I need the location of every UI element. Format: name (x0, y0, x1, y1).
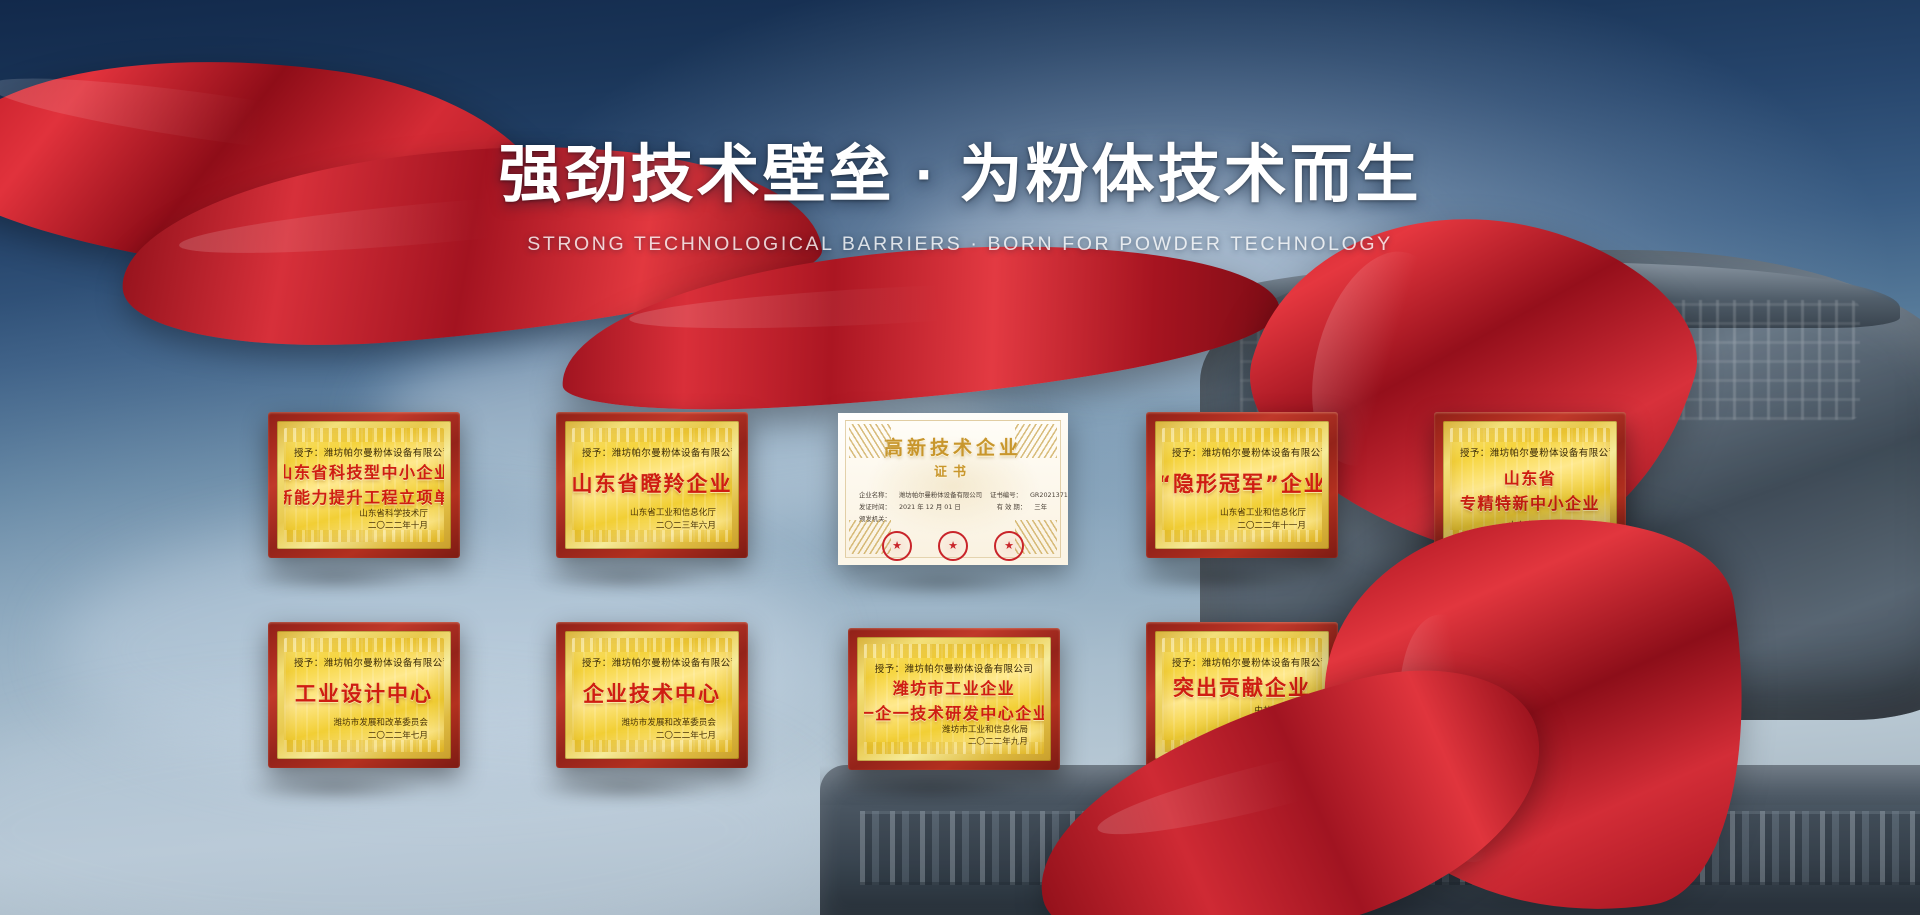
plaque-issuer-line: 二〇二三年六月 (582, 520, 716, 532)
plaque-issuer: 山东省工业和信息化厅 二〇二三年六月 (582, 507, 722, 532)
plaque-face: 授予：潍坊帕尔曼粉体设备有限公司 高质量发展优秀企业 新安街道党工委 新安街道办… (1440, 644, 1620, 754)
plaque-title: 高质量发展优秀企业 (1450, 675, 1610, 707)
plaque-shadow (530, 775, 720, 801)
plaque-shadow (240, 775, 430, 801)
plaque-title: “隐形冠军”企业 (1172, 459, 1312, 507)
certificate-corner-ornament-icon (849, 424, 891, 458)
plaque-issuer: 山东省工业和信息化厅 二〇二二年十一月 (1172, 507, 1312, 532)
plaque-issuer: 山东省科学技术厅 二〇二二年十月 (294, 508, 434, 533)
plaque-title-line: 潍坊市工业企业 (893, 675, 1016, 699)
plaque-title: 潍坊市工业企业 一企一技术研发中心企业 (874, 675, 1034, 724)
award-plaque[interactable]: 授予：潍坊帕尔曼粉体设备有限公司 山东省 专精特新中小企业 山东省工业和信息化厅 (1434, 412, 1626, 558)
certificate-company-label: 企业名称： (859, 489, 891, 501)
plaque-title: 山东省 专精特新中小企业 (1460, 459, 1600, 520)
certificate-validity-label: 有 效 期： (997, 501, 1027, 513)
plaque-awardee: 授予：潍坊帕尔曼粉体设备有限公司 (294, 655, 434, 669)
plaque-title-line: 突出贡献企业 (1173, 672, 1311, 702)
plaque-bevel: 授予：潍坊帕尔曼粉体设备有限公司 工业设计中心 潍坊市发展和改革委员会 二〇二二… (277, 631, 451, 759)
certificate-number-value: GR202137101602 (1030, 489, 1068, 501)
award-plaque[interactable]: 授予：潍坊帕尔曼粉体设备有限公司 突出贡献企业 中共官庄镇委 官庄镇人民政府 二… (1146, 622, 1338, 768)
plaque-title-line: 山东省科技型中小企业 (284, 459, 444, 483)
plaque-awardee: 授予：潍坊帕尔曼粉体设备有限公司 (1172, 445, 1312, 459)
plaque-face: 授予：潍坊帕尔曼粉体设备有限公司 工业设计中心 潍坊市发展和改革委员会 二〇二二… (284, 638, 444, 752)
award-plaque[interactable]: 授予：潍坊帕尔曼粉体设备有限公司 潍坊市工业企业 一企一技术研发中心企业 潍坊市… (848, 628, 1060, 770)
plaque-face: 授予：潍坊帕尔曼粉体设备有限公司 突出贡献企业 中共官庄镇委 官庄镇人民政府 二… (1162, 638, 1322, 752)
page-title: 强劲技术壁垒 · 为粉体技术而生 (0, 140, 1920, 211)
certificate-number-label: 证书编号： (990, 489, 1022, 501)
plaque-awardee: 授予：潍坊帕尔曼粉体设备有限公司 (582, 445, 722, 459)
award-plaque[interactable]: 授予：潍坊帕尔曼粉体设备有限公司 高质量发展优秀企业 新安街道党工委 新安街道办… (1424, 628, 1636, 770)
plaque-bevel: 授予：潍坊帕尔曼粉体设备有限公司 潍坊市工业企业 一企一技术研发中心企业 潍坊市… (857, 637, 1051, 761)
plaque-title: 工业设计中心 (294, 669, 434, 717)
certificate-subtitle: 证书 (934, 461, 972, 480)
award-plaque[interactable]: 授予：潍坊帕尔曼粉体设备有限公司 山东省瞪羚企业 山东省工业和信息化厅 二〇二三… (556, 412, 748, 558)
plaque-shadow (1410, 775, 1610, 801)
plaque-issuer-line: 潍坊市发展和改革委员会 (582, 717, 716, 729)
official-seal-icon (938, 531, 968, 561)
plaque-title: 企业技术中心 (582, 669, 722, 717)
plaque-title-line: 专精特新中小企业 (1460, 490, 1600, 514)
certificate-shadow (840, 570, 1040, 596)
award-plaque[interactable]: 授予：潍坊帕尔曼粉体设备有限公司 企业技术中心 潍坊市发展和改革委员会 二〇二二… (556, 622, 748, 768)
plaque-issuer: 潍坊市发展和改革委员会 二〇二二年七月 (582, 717, 722, 742)
plaque-face: 授予：潍坊帕尔曼粉体设备有限公司 “隐形冠军”企业 山东省工业和信息化厅 二〇二… (1162, 428, 1322, 542)
plaque-issuer-line: 官庄镇人民政府 (1172, 717, 1306, 729)
page-subtitle: STRONG TECHNOLOGICAL BARRIERS · BORN FOR… (0, 233, 1920, 256)
plaque-awardee: 授予：潍坊帕尔曼粉体设备有限公司 (1172, 655, 1312, 669)
plaque-face: 授予：潍坊帕尔曼粉体设备有限公司 山东省 专精特新中小企业 山东省工业和信息化厅 (1450, 428, 1610, 542)
banner-stage: 强劲技术壁垒 · 为粉体技术而生 STRONG TECHNOLOGICAL BA… (0, 0, 1920, 915)
plaque-issuer-line: 潍坊市发展和改革委员会 (294, 717, 428, 729)
plaque-face: 授予：潍坊帕尔曼粉体设备有限公司 企业技术中心 潍坊市发展和改革委员会 二〇二二… (572, 638, 732, 752)
award-plaque[interactable]: 授予：潍坊帕尔曼粉体设备有限公司 山东省科技型中小企业 创新能力提升工程立项单位… (268, 412, 460, 558)
certificate-issue-value: 2021 年 12 月 01 日 (899, 501, 961, 513)
plaque-issuer: 中共官庄镇委 官庄镇人民政府 二〇二〇年一月 (1172, 705, 1312, 742)
plaque-shadow (240, 565, 430, 591)
plaque-issuer-line: 二〇二二年十一月 (1172, 520, 1306, 532)
certificate-field-row: 企业名称： 潍坊帕尔曼粉体设备有限公司 证书编号： GR202137101602 (859, 489, 1047, 501)
plaque-shadow (1120, 775, 1310, 801)
plaque-issuer-line: 新安街道办事处 (1450, 719, 1604, 731)
plaque-title-line: 山东省 (1504, 465, 1557, 489)
plaque-title-line: 创新能力提升工程立项单位 (284, 484, 444, 508)
certificate-corner-ornament-icon (1015, 424, 1057, 458)
plaque-awardee: 授予：潍坊帕尔曼粉体设备有限公司 (1460, 445, 1600, 459)
awards-gallery: 授予：潍坊帕尔曼粉体设备有限公司 山东省科技型中小企业 创新能力提升工程立项单位… (0, 0, 1920, 915)
plaque-bevel: 授予：潍坊帕尔曼粉体设备有限公司 山东省 专精特新中小企业 山东省工业和信息化厅 (1443, 421, 1617, 549)
certificate-inner: 高新技术企业 证书 企业名称： 潍坊帕尔曼粉体设备有限公司 证书编号： GR20… (845, 420, 1061, 558)
plaque-shadow (530, 565, 720, 591)
plaque-face: 授予：潍坊帕尔曼粉体设备有限公司 山东省瞪羚企业 山东省工业和信息化厅 二〇二三… (572, 428, 732, 542)
plaque-issuer: 新安街道党工委 新安街道办事处 二〇二三年二月 (1450, 707, 1610, 744)
certificate-title: 高新技术企业 (884, 433, 1022, 460)
plaque-face: 授予：潍坊帕尔曼粉体设备有限公司 潍坊市工业企业 一企一技术研发中心企业 潍坊市… (864, 644, 1044, 754)
plaque-issuer: 潍坊市发展和改革委员会 二〇二二年七月 (294, 717, 434, 742)
plaque-issuer-line: 新安街道党工委 (1450, 707, 1604, 719)
certificate-validity-value: 三年 (1034, 501, 1047, 513)
plaque-title: 山东省瞪羚企业 (582, 459, 722, 507)
plaque-issuer-line: 山东省工业和信息化厅 (582, 507, 716, 519)
plaque-bevel: 授予：潍坊帕尔曼粉体设备有限公司 高质量发展优秀企业 新安街道党工委 新安街道办… (1433, 637, 1627, 761)
plaque-awardee: 授予：潍坊帕尔曼粉体设备有限公司 (874, 661, 1034, 675)
plaque-title-line: 企业技术中心 (583, 678, 721, 708)
plaque-shadow (1120, 565, 1310, 591)
certificate-issue-label: 发证时间： (859, 501, 891, 513)
plaque-bevel: 授予：潍坊帕尔曼粉体设备有限公司 突出贡献企业 中共官庄镇委 官庄镇人民政府 二… (1155, 631, 1329, 759)
plaque-issuer-line: 山东省工业和信息化厅 (1172, 507, 1306, 519)
certificate-field-row: 发证时间： 2021 年 12 月 01 日 有 效 期： 三年 (859, 501, 1047, 513)
plaque-bevel: 授予：潍坊帕尔曼粉体设备有限公司 山东省科技型中小企业 创新能力提升工程立项单位… (277, 421, 451, 549)
certificate-company-value: 潍坊帕尔曼粉体设备有限公司 (899, 489, 982, 501)
plaque-issuer-line: 二〇二三年二月 (1450, 732, 1604, 744)
plaque-title-line: 一企一技术研发中心企业 (864, 700, 1044, 724)
plaque-title-line: 高质量发展优秀企业 (1440, 677, 1620, 704)
plaque-issuer-line: 二〇二二年九月 (874, 736, 1028, 748)
certificate-seals (882, 531, 1024, 561)
plaque-shadow (830, 775, 1030, 801)
plaque-issuer-line: 二〇二〇年一月 (1172, 730, 1306, 742)
plaque-face: 授予：潍坊帕尔曼粉体设备有限公司 山东省科技型中小企业 创新能力提升工程立项单位… (284, 428, 444, 542)
plaque-issuer-line: 二〇二二年七月 (294, 730, 428, 742)
plaque-issuer-line: 二〇二二年七月 (582, 730, 716, 742)
banner-headings: 强劲技术壁垒 · 为粉体技术而生 STRONG TECHNOLOGICAL BA… (0, 140, 1920, 256)
plaque-title-line: “隐形冠军”企业 (1162, 468, 1322, 498)
plaque-bevel: 授予：潍坊帕尔曼粉体设备有限公司 企业技术中心 潍坊市发展和改革委员会 二〇二二… (565, 631, 739, 759)
plaque-issuer-line: 中共官庄镇委 (1172, 705, 1306, 717)
award-plaque[interactable]: 授予：潍坊帕尔曼粉体设备有限公司 “隐形冠军”企业 山东省工业和信息化厅 二〇二… (1146, 412, 1338, 558)
plaque-awardee: 授予：潍坊帕尔曼粉体设备有限公司 (582, 655, 722, 669)
plaque-title: 突出贡献企业 (1172, 669, 1312, 705)
official-seal-icon (882, 531, 912, 561)
plaque-issuer: 潍坊市工业和信息化局 二〇二二年九月 (874, 724, 1034, 749)
plaque-issuer-line: 山东省工业和信息化厅 (1460, 520, 1594, 532)
plaque-bevel: 授予：潍坊帕尔曼粉体设备有限公司 山东省瞪羚企业 山东省工业和信息化厅 二〇二三… (565, 421, 739, 549)
plaque-bevel: 授予：潍坊帕尔曼粉体设备有限公司 “隐形冠军”企业 山东省工业和信息化厅 二〇二… (1155, 421, 1329, 549)
award-plaque[interactable]: 授予：潍坊帕尔曼粉体设备有限公司 工业设计中心 潍坊市发展和改革委员会 二〇二二… (268, 622, 460, 768)
plaque-awardee: 授予：潍坊帕尔曼粉体设备有限公司 (294, 445, 434, 459)
plaque-issuer-line: 山东省科学技术厅 (294, 508, 428, 520)
plaque-title: 山东省科技型中小企业 创新能力提升工程立项单位 (294, 459, 434, 508)
plaque-issuer: 山东省工业和信息化厅 (1460, 520, 1600, 532)
plaque-awardee: 授予：潍坊帕尔曼粉体设备有限公司 (1450, 661, 1610, 675)
plaque-issuer-line: 二〇二二年十月 (294, 520, 428, 532)
official-seal-icon (994, 531, 1024, 561)
plaque-shadow (1410, 565, 1600, 591)
plaque-title-line: 山东省瞪羚企业 (572, 468, 732, 498)
plaque-title-line: 工业设计中心 (295, 678, 433, 708)
plaque-issuer-line: 潍坊市工业和信息化局 (874, 724, 1028, 736)
high-tech-enterprise-certificate[interactable]: 高新技术企业 证书 企业名称： 潍坊帕尔曼粉体设备有限公司 证书编号： GR20… (838, 413, 1068, 565)
